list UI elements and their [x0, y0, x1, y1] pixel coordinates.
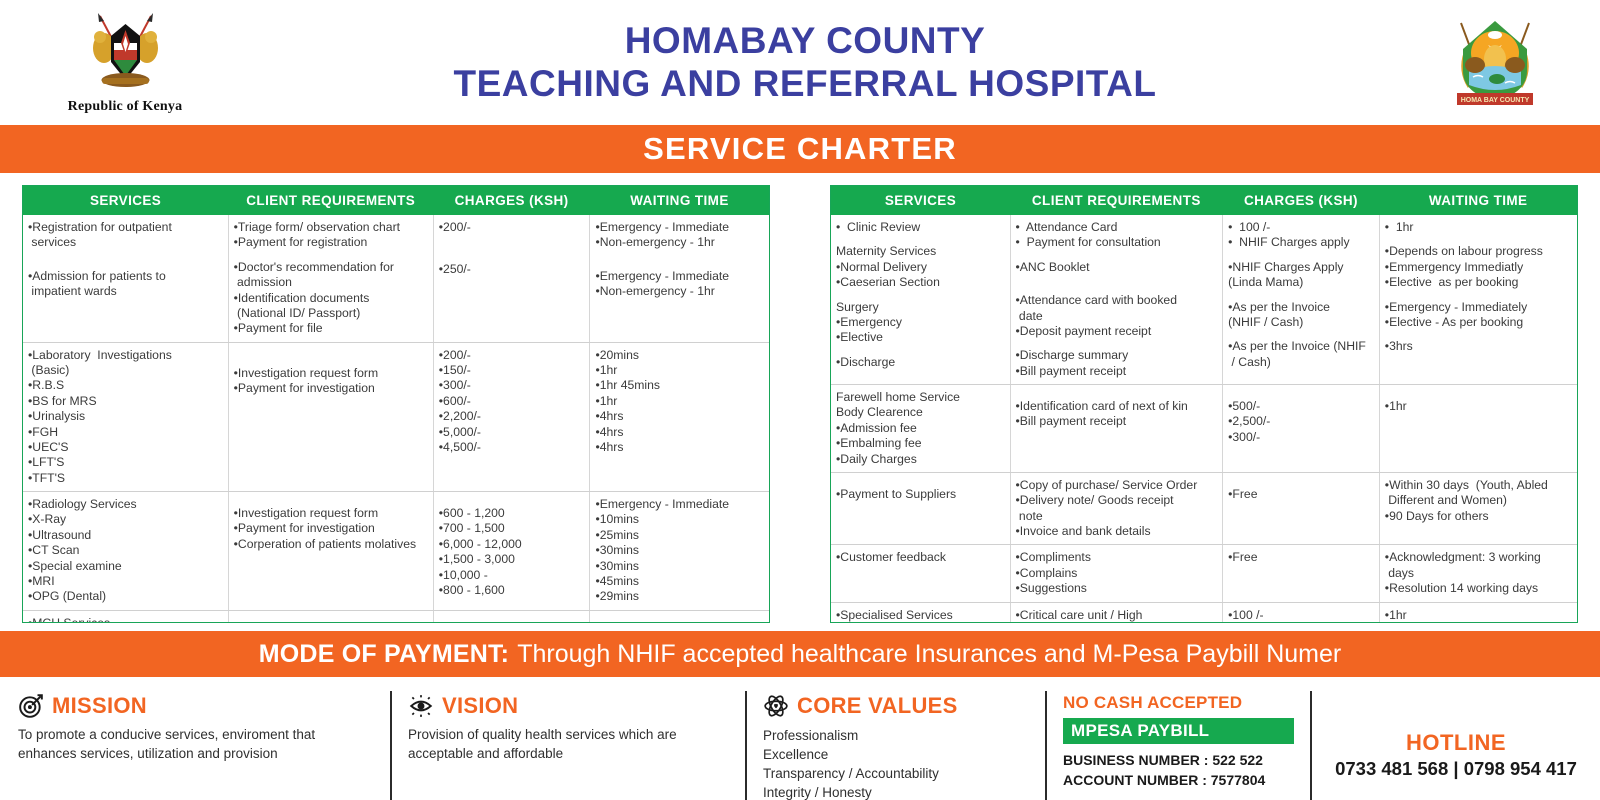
cell-line-list: •100 /-•NHIF Charges apply	[1228, 608, 1373, 624]
cell-line: admission	[234, 275, 427, 290]
cell-line: •30mins	[595, 543, 763, 558]
core-value-item: Excellence	[763, 745, 1029, 764]
cell-line: •600 - 1,200	[439, 506, 584, 521]
cell-line: •Depends on labour progress	[1385, 244, 1571, 259]
cell-line: •Invoice and bank details	[1016, 524, 1217, 539]
cell-line: Maternity Services	[836, 244, 1004, 259]
cell-line-list: •Free	[1228, 478, 1373, 502]
cell-line: •Elective	[836, 330, 1004, 345]
cell-line: •Caeserian Section	[836, 275, 1004, 290]
charter-table-left-body: •Registration for outpatient services•Ad…	[23, 215, 769, 623]
col-header-waiting: WAITING TIME	[590, 186, 769, 215]
payment-details-section: NO CASH ACCEPTED MPESA PAYBILL BUSINESS …	[1045, 687, 1310, 800]
core-value-item: Integrity / Honesty	[763, 783, 1029, 800]
cell-line: •Admission for patients to	[28, 269, 222, 284]
cell-line: •6,000 - 12,000	[439, 537, 584, 552]
cell-spacer	[234, 251, 427, 260]
cell-spacer	[1228, 251, 1373, 260]
mode-of-payment-text: Through NHIF accepted healthcare Insuran…	[517, 640, 1341, 669]
cell-line: •MRI	[28, 574, 222, 589]
cell-line: •Emmergency Immediatly	[1385, 260, 1571, 275]
cell-spacer	[234, 616, 427, 623]
cell-spacer	[1385, 390, 1571, 399]
cell-spacer	[1228, 291, 1373, 300]
cell-line-list: •Free	[1228, 550, 1373, 565]
cell-spacer	[1228, 390, 1373, 399]
cell-line: •Admission fee	[836, 421, 1004, 436]
cell-line: •Specialised Services	[836, 608, 1004, 623]
cell-line-list: •Identification card of next of kin•Bill…	[1016, 390, 1217, 430]
table-cell-chg: •100 /-•NHIF Charges apply	[1223, 602, 1380, 623]
cell-spacer	[1016, 284, 1217, 293]
cell-line: •Identification documents	[234, 291, 427, 306]
cell-line: •Suggestions	[1016, 581, 1217, 596]
kenya-coat-of-arms: Republic of Kenya	[30, 10, 220, 115]
cell-line-list: •500/-•2,500/-•300/-	[1228, 390, 1373, 445]
cell-line: •Non-emergency - 1hr	[595, 235, 763, 250]
cell-line: •150/-	[439, 363, 584, 378]
cell-spacer	[836, 235, 1004, 244]
hotline-title: HOTLINE	[1406, 730, 1506, 756]
cell-line: note	[1016, 509, 1217, 524]
core-value-item: Transparency / Accountability	[763, 764, 1029, 783]
table-cell-svc: •MCH Services•ANC Services•Family Planni…	[23, 610, 228, 623]
cell-line: •Attendance card with booked	[1016, 293, 1217, 308]
cell-line: (NHIF / Cash)	[1228, 315, 1373, 330]
table-cell-chg: •600 - 1,200•700 - 1,500•6,000 - 12,000•…	[433, 492, 590, 611]
col-header-charges: CHARGES (KSH)	[1223, 186, 1380, 215]
core-values-list: ProfessionalismExcellenceTransparency / …	[763, 726, 1029, 800]
cell-line: •Triage form/ observation chart	[234, 220, 427, 235]
cell-line: •FGH	[28, 425, 222, 440]
col-header-charges: CHARGES (KSH)	[433, 186, 590, 215]
cell-line-list: •Payment to Suppliers	[836, 478, 1004, 502]
cell-line-list: •Triage form/ observation chart•Payment …	[234, 220, 427, 337]
target-icon	[18, 693, 44, 719]
eye-icon	[408, 693, 434, 719]
cell-line: •700 - 1,500	[439, 521, 584, 536]
cell-line: •800 - 1,600	[439, 583, 584, 598]
cell-line: services	[28, 235, 222, 250]
table-cell-wait	[590, 610, 769, 623]
table-cell-chg: •Free	[1223, 472, 1380, 545]
table-row: • Clinic ReviewMaternity Services•Normal…	[831, 215, 1577, 385]
cell-line: •Within 30 days (Youth, Abled	[1385, 478, 1571, 493]
cell-line: •1hr	[595, 363, 763, 378]
service-charter-poster: Republic of Kenya HOMABAY COUNTY TEACHIN…	[0, 0, 1600, 800]
cell-line: •3hrs	[1385, 339, 1571, 354]
cell-line: •200/-	[439, 348, 584, 363]
col-header-requirements: CLIENT REQUIREMENTS	[228, 186, 433, 215]
cell-line-list: •200/-•250/-	[439, 220, 584, 278]
cell-line: •4hrs	[595, 425, 763, 440]
table-cell-req: •Compliments•Complains•Suggestions	[1010, 545, 1223, 602]
cell-line: •Emergency	[836, 315, 1004, 330]
cell-line: •4hrs	[595, 440, 763, 455]
cell-spacer	[1385, 330, 1571, 339]
col-header-services: SERVICES	[831, 186, 1010, 215]
core-values-heading: CORE VALUES	[763, 693, 1029, 719]
hotline-numbers: 0733 481 568 | 0798 954 417	[1335, 758, 1577, 780]
cell-line-list: •Registration for outpatient services•Ad…	[28, 220, 222, 300]
cell-line: •Resolution 14 working days	[1385, 581, 1571, 596]
cell-line: •1hr 45mins	[595, 378, 763, 393]
cell-line: •Special examine	[28, 559, 222, 574]
cell-line: • Payment for consultation	[1016, 235, 1217, 250]
charter-tables: SERVICES CLIENT REQUIREMENTS CHARGES (KS…	[0, 173, 1600, 623]
cell-line: / Cash)	[1228, 355, 1373, 370]
table-cell-svc: •Registration for outpatient services•Ad…	[23, 215, 228, 342]
cell-line: •4hrs	[595, 409, 763, 424]
cell-line: •Deposit payment receipt	[1016, 324, 1217, 339]
cell-line-list: •1hr	[1385, 608, 1571, 623]
cell-line: •4,500/-	[439, 440, 584, 455]
cell-line: •Delivery note/ Goods receipt	[1016, 493, 1217, 508]
cell-line: •Elective - As per booking	[1385, 315, 1571, 330]
cell-line-list: •Acknowledgment: 3 working days•Resoluti…	[1385, 550, 1571, 596]
cell-line: •Payment for file	[234, 321, 427, 336]
cell-line-list: • 100 /-• NHIF Charges apply•NHIF Charge…	[1228, 220, 1373, 370]
cell-line-list: •Copy of purchase/ Service Order•Deliver…	[1016, 478, 1217, 540]
cell-line: (Linda Mama)	[1228, 275, 1373, 290]
mission-title: MISSION	[52, 693, 147, 719]
cell-line: •OPG (Dental)	[28, 589, 222, 604]
cell-spacer	[836, 291, 1004, 300]
cell-line-list: • Clinic ReviewMaternity Services•Normal…	[836, 220, 1004, 370]
cell-line: •CT Scan	[28, 543, 222, 558]
mission-section: MISSION To promote a conducive services,…	[0, 687, 390, 800]
cell-line: • Attendance Card	[1016, 220, 1217, 235]
cell-spacer	[836, 346, 1004, 355]
cell-spacer	[1228, 330, 1373, 339]
cell-line: •Payment for investigation	[234, 521, 427, 536]
col-header-services: SERVICES	[23, 186, 228, 215]
cell-line: •Identification card of next of kin	[1016, 399, 1217, 414]
cell-line: Farewell home Service	[836, 390, 1004, 405]
cell-line: •Compliments	[1016, 550, 1217, 565]
crest-caption: Republic of Kenya	[68, 99, 183, 115]
cell-line: •Laboratory Investigations	[28, 348, 222, 363]
cell-spacer	[439, 497, 584, 506]
cell-line: impatient wards	[28, 284, 222, 299]
cell-line: •Complains	[1016, 566, 1217, 581]
cell-line: •1hr	[1385, 399, 1571, 414]
table-cell-wait: • 1hr•Depends on labour progress•Emmerge…	[1379, 215, 1577, 385]
cell-line: •500/-	[1228, 399, 1373, 414]
cell-line: •45mins	[595, 574, 763, 589]
title-line-1: HOMABAY COUNTY	[220, 20, 1390, 63]
cell-spacer	[234, 348, 427, 357]
cell-line: •300/-	[1228, 430, 1373, 445]
cell-line-list: •1hr	[1385, 390, 1571, 414]
cell-spacer	[234, 497, 427, 506]
cell-line: •Corperation of patients molatives	[234, 537, 427, 552]
cell-line-list: •MCH Services•ANC Services•Family Planni…	[28, 616, 222, 623]
table-cell-req: •Investigation request form•Payment for …	[228, 342, 433, 491]
atom-heart-icon	[763, 693, 789, 719]
vision-section: VISION Provision of quality health servi…	[390, 687, 745, 800]
cell-line: Different and Women)	[1385, 493, 1571, 508]
cell-spacer	[1385, 235, 1571, 244]
table-cell-svc: •Customer feedback	[831, 545, 1010, 602]
table-row: •Specialised Services•Critical care unit…	[831, 602, 1577, 623]
cell-line: days	[1385, 566, 1571, 581]
cell-line: •BS for MRS	[28, 394, 222, 409]
cell-line: • 100 /-	[1228, 220, 1373, 235]
cell-line-list: •Customer feedback	[836, 550, 1004, 565]
cell-line: •Payment for registration	[234, 235, 427, 250]
cell-line-list: •Laboratory Investigations (Basic)•R.B.S…	[28, 348, 222, 486]
poster-header: Republic of Kenya HOMABAY COUNTY TEACHIN…	[0, 0, 1600, 125]
table-cell-chg: • 100 /-• NHIF Charges apply•NHIF Charge…	[1223, 215, 1380, 385]
charter-table-left-wrap: SERVICES CLIENT REQUIREMENTS CHARGES (KS…	[22, 185, 770, 623]
cell-line-list	[595, 616, 763, 623]
cell-line-list: • Attendance Card• Payment for consultat…	[1016, 220, 1217, 379]
cell-line: •Emergency - Immediate	[595, 269, 763, 284]
mission-body: To promote a conducive services, envirom…	[18, 726, 374, 763]
cell-line: •Emergency - Immediate	[595, 497, 763, 512]
table-cell-chg: •Free	[433, 610, 590, 623]
charter-table-right: SERVICES CLIENT REQUIREMENTS CHARGES (KS…	[831, 186, 1577, 623]
cell-spacer	[439, 235, 584, 244]
cell-line: Surgery	[836, 300, 1004, 315]
county-emblem-icon: HOMA BAY COUNTY	[1435, 13, 1555, 113]
table-header-row: SERVICES CLIENT REQUIREMENTS CHARGES (KS…	[23, 186, 769, 215]
table-cell-wait: •Within 30 days (Youth, Abled Different …	[1379, 472, 1577, 545]
cell-line: •200/-	[439, 220, 584, 235]
mode-of-payment-label: MODE OF PAYMENT:	[259, 640, 509, 669]
core-values-title: CORE VALUES	[797, 693, 958, 719]
cell-line: •Free	[1228, 550, 1373, 565]
cell-line: •Doctor's recommendation for	[234, 260, 427, 275]
cell-line: •Emergency - Immediate	[595, 220, 763, 235]
cell-line: •As per the Invoice	[1228, 300, 1373, 315]
cell-line: •1hr	[1385, 608, 1571, 623]
cell-line: •Bill payment receipt	[1016, 414, 1217, 429]
poster-footer: MISSION To promote a conducive services,…	[0, 677, 1600, 800]
table-cell-wait: •Acknowledgment: 3 working days•Resoluti…	[1379, 545, 1577, 602]
homa-bay-county-logo: HOMA BAY COUNTY	[1420, 13, 1570, 113]
table-cell-chg: •200/-•150/-•300/-•600/-•2,200/-•5,000/-…	[433, 342, 590, 491]
cell-line-list: •Investigation request form•Payment for …	[234, 497, 427, 552]
table-cell-chg: •200/-•250/-	[433, 215, 590, 342]
cell-spacer	[595, 616, 763, 623]
cell-line: (Basic)	[28, 363, 222, 378]
cell-line: •Bill payment receipt	[1016, 364, 1217, 379]
cell-line: •X-Ray	[28, 512, 222, 527]
cell-line: •Customer feedback	[836, 550, 1004, 565]
cell-line: •UEC'S	[28, 440, 222, 455]
cell-line: •Embalming fee	[836, 436, 1004, 451]
table-cell-wait: •Emergency - Immediate•Non-emergency - 1…	[590, 215, 769, 342]
account-number: ACCOUNT NUMBER : 7577804	[1063, 770, 1294, 790]
cell-spacer	[1016, 275, 1217, 284]
cell-line: Body Clearence	[836, 405, 1004, 420]
table-row: •Laboratory Investigations (Basic)•R.B.S…	[23, 342, 769, 491]
cell-line-list: •Emergency - Immediate•Non-emergency - 1…	[595, 220, 763, 300]
cell-line: •20mins	[595, 348, 763, 363]
cell-spacer	[1016, 339, 1217, 348]
cell-line: •29mins	[595, 589, 763, 604]
table-cell-chg: •Free	[1223, 545, 1380, 602]
mission-heading: MISSION	[18, 693, 374, 719]
charter-table-left: SERVICES CLIENT REQUIREMENTS CHARGES (KS…	[23, 186, 769, 623]
cell-spacer	[1385, 291, 1571, 300]
cell-line: •Free	[1228, 487, 1373, 502]
table-header-row: SERVICES CLIENT REQUIREMENTS CHARGES (KS…	[831, 186, 1577, 215]
table-cell-wait: •20mins•1hr•1hr 45mins•1hr•4hrs•4hrs•4hr…	[590, 342, 769, 491]
cell-line: •Normal Delivery	[836, 260, 1004, 275]
cell-line: •300/-	[439, 378, 584, 393]
charter-table-right-body: • Clinic ReviewMaternity Services•Normal…	[831, 215, 1577, 623]
table-cell-req: •ANC Booklet	[228, 610, 433, 623]
cell-line: date	[1016, 309, 1217, 324]
cell-line: •600/-	[439, 394, 584, 409]
cell-line: •10mins	[595, 512, 763, 527]
core-value-item: Professionalism	[763, 726, 1029, 745]
table-cell-req: •Copy of purchase/ Service Order•Deliver…	[1010, 472, 1223, 545]
business-number: BUSINESS NUMBER : 522 522	[1063, 750, 1294, 770]
title-line-2: TEACHING AND REFERRAL HOSPITAL	[220, 63, 1390, 106]
cell-line: •1hr	[595, 394, 763, 409]
cell-line: •Acknowledgment: 3 working	[1385, 550, 1571, 565]
table-row: •Payment to Suppliers•Copy of purchase/ …	[831, 472, 1577, 545]
no-cash-accepted-label: NO CASH ACCEPTED	[1063, 693, 1294, 713]
cell-spacer	[234, 357, 427, 366]
cell-line: •MCH Services	[28, 616, 222, 623]
cell-line: •Investigation request form	[234, 366, 427, 381]
table-cell-req: •Triage form/ observation chart•Payment …	[228, 215, 433, 342]
table-cell-chg: •500/-•2,500/-•300/-	[1223, 385, 1380, 473]
cell-line-list: •Free	[439, 616, 584, 623]
table-cell-svc: Farewell home ServiceBody Clearence•Admi…	[831, 385, 1010, 473]
mode-of-payment-bar: MODE OF PAYMENT: Through NHIF accepted h…	[0, 631, 1600, 677]
cell-line-list: Farewell home ServiceBody Clearence•Admi…	[836, 390, 1004, 467]
cell-line: •Payment for investigation	[234, 381, 427, 396]
cell-line: •Payment to Suppliers	[836, 487, 1004, 502]
cell-line-list: •Investigation request form•Payment for …	[234, 348, 427, 397]
cell-line: •Urinalysis	[28, 409, 222, 424]
cell-spacer	[1016, 390, 1217, 399]
table-row: Farewell home ServiceBody Clearence•Admi…	[831, 385, 1577, 473]
cell-line: •Emergency - Immediately	[1385, 300, 1571, 315]
cell-line: •100 /-	[1228, 608, 1373, 623]
cell-line-list: •Specialised Services	[836, 608, 1004, 623]
cell-line: •Copy of purchase/ Service Order	[1016, 478, 1217, 493]
vision-heading: VISION	[408, 693, 729, 719]
hotline-section: HOTLINE 0733 481 568 | 0798 954 417	[1310, 687, 1600, 800]
cell-spacer	[1228, 478, 1373, 487]
table-row: •Radiology Services•X-Ray•Ultrasound•CT …	[23, 492, 769, 611]
table-cell-svc: •Payment to Suppliers	[831, 472, 1010, 545]
cell-line-list: •Radiology Services•X-Ray•Ultrasound•CT …	[28, 497, 222, 605]
cell-line: •R.B.S	[28, 378, 222, 393]
cell-spacer	[28, 251, 222, 260]
col-header-waiting: WAITING TIME	[1379, 186, 1577, 215]
cell-line: •LFT'S	[28, 455, 222, 470]
cell-line: •30mins	[595, 559, 763, 574]
table-cell-wait: •1hr	[1379, 385, 1577, 473]
table-cell-svc: •Radiology Services•X-Ray•Ultrasound•CT …	[23, 492, 228, 611]
mpesa-paybill-label: MPESA PAYBILL	[1063, 718, 1294, 744]
cell-line: •Registration for outpatient	[28, 220, 222, 235]
col-header-requirements: CLIENT REQUIREMENTS	[1010, 186, 1223, 215]
cell-line-list: •ANC Booklet	[234, 616, 427, 623]
cell-line: • Clinic Review	[836, 220, 1004, 235]
table-cell-req: •Investigation request form•Payment for …	[228, 492, 433, 611]
cell-spacer	[836, 478, 1004, 487]
cell-line: •Discharge summary	[1016, 348, 1217, 363]
table-cell-req: •Identification card of next of kin•Bill…	[1010, 385, 1223, 473]
cell-line: •ANC Booklet	[1016, 260, 1217, 275]
cell-line: •NHIF Charges Apply	[1228, 260, 1373, 275]
core-values-section: CORE VALUES ProfessionalismExcellenceTra…	[745, 687, 1045, 800]
charter-table-right-wrap: SERVICES CLIENT REQUIREMENTS CHARGES (KS…	[830, 185, 1578, 623]
cell-line: • 1hr	[1385, 220, 1571, 235]
coat-of-arms-icon	[78, 10, 173, 98]
table-cell-wait: •1hr	[1379, 602, 1577, 623]
cell-line-list: •Emergency - Immediate•10mins•25mins•30m…	[595, 497, 763, 605]
cell-line-list: •600 - 1,200•700 - 1,500•6,000 - 12,000•…	[439, 497, 584, 598]
table-cell-req: •Critical care unit / High dependancy un…	[1010, 602, 1223, 623]
cell-line-list: •Within 30 days (Youth, Abled Different …	[1385, 478, 1571, 524]
cell-line: •2,200/-	[439, 409, 584, 424]
cell-line: •25mins	[595, 528, 763, 543]
cell-line: •Investigation request form	[234, 506, 427, 521]
cell-line: •TFT'S	[28, 471, 222, 486]
table-cell-svc: • Clinic ReviewMaternity Services•Normal…	[831, 215, 1010, 385]
cell-spacer	[595, 260, 763, 269]
vision-body: Provision of quality health services whi…	[408, 726, 729, 763]
table-cell-req: • Attendance Card• Payment for consultat…	[1010, 215, 1223, 385]
vision-title: VISION	[442, 693, 518, 719]
table-cell-wait: •Emergency - Immediate•10mins•25mins•30m…	[590, 492, 769, 611]
table-row: •Customer feedback•Compliments•Complains…	[831, 545, 1577, 602]
table-cell-svc: •Specialised Services	[831, 602, 1010, 623]
county-ribbon-text: HOMA BAY COUNTY	[1461, 97, 1530, 104]
cell-line: • NHIF Charges apply	[1228, 235, 1373, 250]
service-charter-banner: SERVICE CHARTER	[0, 125, 1600, 173]
cell-line: •10,000 -	[439, 568, 584, 583]
cell-spacer	[1016, 251, 1217, 260]
cell-line: •Radiology Services	[28, 497, 222, 512]
cell-spacer	[28, 260, 222, 269]
cell-line-list: •200/-•150/-•300/-•600/-•2,200/-•5,000/-…	[439, 348, 584, 456]
hospital-title: HOMABAY COUNTY TEACHING AND REFERRAL HOS…	[220, 20, 1420, 106]
cell-line: •Daily Charges	[836, 452, 1004, 467]
cell-line: •Non-emergency - 1hr	[595, 284, 763, 299]
cell-line: •2,500/-	[1228, 414, 1373, 429]
cell-line-list: •Compliments•Complains•Suggestions	[1016, 550, 1217, 596]
cell-line: •Critical care unit / High	[1016, 608, 1217, 623]
cell-spacer	[439, 244, 584, 253]
cell-line: •250/-	[439, 262, 584, 277]
cell-line: •5,000/-	[439, 425, 584, 440]
cell-line-list: •Critical care unit / High dependancy un…	[1016, 608, 1217, 624]
cell-line: •Elective as per booking	[1385, 275, 1571, 290]
cell-spacer	[439, 616, 584, 623]
table-row: •Registration for outpatient services•Ad…	[23, 215, 769, 342]
cell-line: •As per the Invoice (NHIF	[1228, 339, 1373, 354]
cell-line: •90 Days for others	[1385, 509, 1571, 524]
cell-line: (National ID/ Passport)	[234, 306, 427, 321]
cell-line-list: • 1hr•Depends on labour progress•Emmerge…	[1385, 220, 1571, 355]
cell-spacer	[595, 251, 763, 260]
service-charter-banner-text: SERVICE CHARTER	[643, 131, 957, 167]
cell-line: •1,500 - 3,000	[439, 552, 584, 567]
cell-line: •Ultrasound	[28, 528, 222, 543]
table-cell-svc: •Laboratory Investigations (Basic)•R.B.S…	[23, 342, 228, 491]
